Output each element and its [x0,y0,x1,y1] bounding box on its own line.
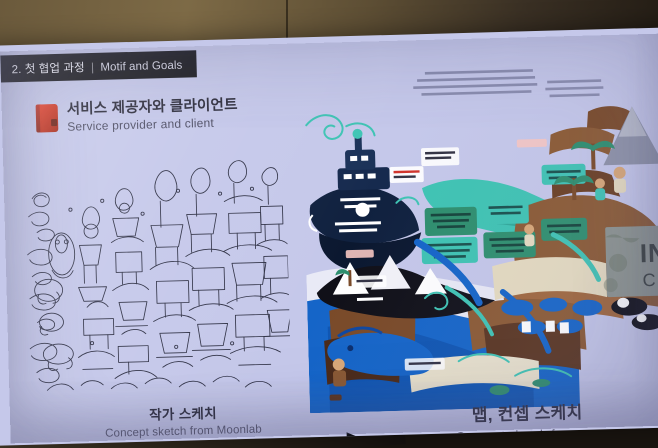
left-caption-ko: 작가 스케치 [68,400,298,426]
projection-screen: 2. 첫 협업 과정 | Motif and Goals 서비스 제공자와 클라… [0,27,658,446]
map-sign-text: IND [639,237,658,268]
red-notebook-icon [36,104,59,133]
photo-of-presentation-screen: 2. 첫 협업 과정 | Motif and Goals 서비스 제공자와 클라… [0,0,658,448]
left-line-art-sketch [23,152,292,403]
left-caption: 작가 스케치 Concept sketch from Moonlab [68,400,299,441]
right-caption-en: Concept sketch from me [403,424,653,446]
slide-header-en: Motif and Goals [100,59,182,73]
slide-header-text: 2. 첫 협업 과정 | Motif and Goals [11,56,182,77]
right-caption-ko: 맵, 컨셉 스케치 [402,396,653,428]
left-caption-en: Concept sketch from Moonlab [68,423,298,441]
right-caption: 맵, 컨셉 스케치 Concept sketch from me [402,396,653,446]
slide-header-bar: 2. 첫 협업 과정 | Motif and Goals [0,50,197,82]
slide-header-ko: 2. 첫 협업 과정 [11,62,84,76]
right-color-map-illustration: IND C [301,56,658,414]
slide-title-row: 서비스 제공자와 클라이언트 Service provider and clie… [36,97,239,134]
svg-text:C: C [642,270,656,290]
slide-header-separator: | [91,61,94,73]
